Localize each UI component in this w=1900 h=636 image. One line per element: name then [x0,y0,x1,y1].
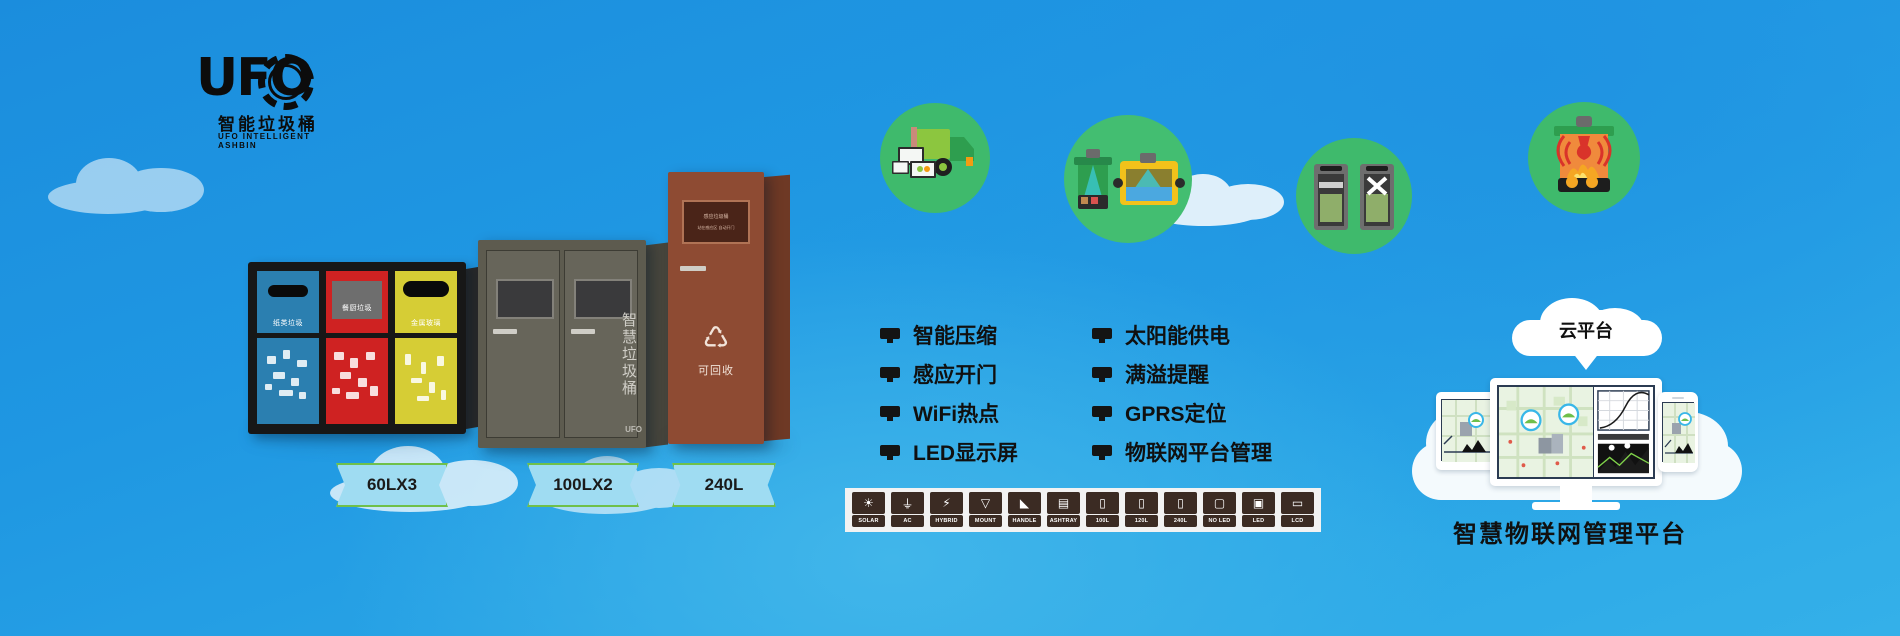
fire-alarm-icon [1528,102,1640,214]
feature-circle-truck [880,103,990,213]
device-desktop-monitor [1490,378,1662,486]
truck-monitoring-icon [880,103,990,213]
feature-circle-compression [1296,138,1412,254]
bin-side-panel [644,243,668,448]
spec-icon-mount: ▽MOUNT [969,492,1002,528]
capacity-banner-240l: 240L [672,463,776,507]
phone-speaker [1672,397,1684,399]
brand-en-name: UFO INTELLIGENT ASHBIN [218,132,326,150]
feature-label: WiFi热点 [913,398,999,428]
brand-logo: UFO 智能垃圾桶 UFO INTELLIGENT ASHBIN [196,52,326,152]
spec-icon-lcd: ▭LCD [1281,492,1314,528]
fill-level-sensor-icon [1064,115,1192,243]
ashtray-icon: ▤ [1047,492,1080,514]
bin-120l-icon: ▯ [1125,492,1158,514]
feature-label: 感应开门 [913,359,997,389]
spec-caption: 240L [1164,515,1197,527]
compartment-bottom-metal-glass [395,338,457,424]
feature-item: 满溢提醒 [1092,359,1272,389]
spec-caption: MOUNT [969,515,1002,527]
spec-icon-ac: ⏚AC [891,492,924,528]
arrow-stem [1579,344,1593,356]
spec-icon-solar: ☀SOLAR [852,492,885,528]
feature-item: 物联网平台管理 [1092,437,1272,467]
spec-icon-ashtray: ▤ASHTRAY [1047,492,1080,528]
spec-icon-strip: ☀SOLAR ⏚AC ⚡HYBRID ▽MOUNT ◣HANDLE ▤ASHTR… [845,488,1321,532]
bin-handle [493,329,517,334]
compartment-label-metal-glass: 金属玻璃 [395,318,457,328]
product-smart-double-bin: 智慧垃圾桶 UFO [478,240,646,448]
compartment-label-paper: 纸类垃圾 [257,318,319,328]
feature-label: LED显示屏 [913,437,1018,467]
spec-caption: 100L [1086,515,1119,527]
compartment-top-metal-glass: 金属玻璃 [395,271,457,333]
tablet-map-chart [1442,400,1492,462]
compartment-top-kitchen: 餐厨垃圾 [326,271,388,333]
dashboard-charts [1594,387,1653,477]
spec-caption: HANDLE [1008,515,1041,527]
monitor-icon [1092,406,1112,421]
monitor-base [1532,502,1620,510]
spec-caption: LCD [1281,515,1314,527]
feature-item: 太阳能供电 [1092,320,1272,350]
spec-icon-120l: ▯120L [1125,492,1158,528]
bin-handle [680,266,706,271]
phone-screen [1662,402,1694,462]
plug-icon: ⏚ [891,492,924,514]
bin-handle [571,329,595,334]
feature-column-left: 智能压缩 感应开门 WiFi热点 LED显示屏 [880,320,1018,467]
bin-brand-logo: UFO [625,425,642,434]
tablet-screen [1441,399,1491,461]
capacity-banner-60lx3: 60LX3 [336,463,448,507]
bin-door-left [486,250,560,438]
feature-list: 智能压缩 感应开门 WiFi热点 LED显示屏 太阳能供电 满溢提醒 GPRS定… [880,320,1272,467]
monitor-icon [880,406,900,421]
monitor-icon [1092,328,1112,343]
monitor-screen [1497,385,1655,479]
spec-icon-no-led: ▢NO LED [1203,492,1236,528]
monitor-map-panel [1499,387,1593,477]
bin-screen-text: 感应垃圾桶 [684,214,748,221]
bin-display-screen: 感应垃圾桶 站在感应区 自动开门 [682,200,750,244]
handle-icon: ◣ [1008,492,1041,514]
compression-bin-icon [1296,138,1412,254]
monitor-icon [880,367,900,382]
recycle-symbol-icon: ♺ [668,324,764,354]
monitor-icon [1092,367,1112,382]
bin-display-screen [496,279,554,319]
monitor-icon [1092,445,1112,460]
spec-icon-240l: ▯240L [1164,492,1197,528]
monitor-icon [880,445,900,460]
spec-caption: ASHTRAY [1047,515,1080,527]
city-map-graphic [1499,387,1593,477]
feature-item: GPRS定位 [1092,398,1272,428]
spec-caption: AC [891,515,924,527]
feature-label: GPRS定位 [1125,398,1227,428]
no-led-icon: ▢ [1203,492,1236,514]
capacity-banner-100lx2: 100LX2 [527,463,639,507]
product-recycle-bin: 感应垃圾桶 站在感应区 自动开门 ♺ 可回收 [668,172,764,444]
phone-map-chart [1663,403,1695,463]
compartment-label-kitchen: 餐厨垃圾 [326,303,388,313]
feature-label: 满溢提醒 [1125,359,1209,389]
spec-caption: NO LED [1203,515,1236,527]
recycle-label: 可回收 [668,362,764,378]
feature-item: 智能压缩 [880,320,1018,350]
spec-icon-led: ▣LED [1242,492,1275,528]
compartment-bottom-paper [257,338,319,424]
feature-circle-fill-level [1064,115,1192,243]
platform-title: 智慧物联网管理平台 [1400,514,1740,549]
spec-caption: LED [1242,515,1275,527]
compartment-panel [332,281,382,319]
bin-240l-icon: ▯ [1164,492,1197,514]
sun-icon: ☀ [852,492,885,514]
spec-icon-hybrid: ⚡HYBRID [930,492,963,528]
feature-item: 感应开门 [880,359,1018,389]
poster-canvas: UFO 智能垃圾桶 UFO INTELLIGENT ASHBIN 纸类垃圾 餐厨… [0,0,1900,636]
spec-caption: SOLAR [852,515,885,527]
led-icon: ▣ [1242,492,1275,514]
feature-circle-fire-alarm [1528,102,1640,214]
device-tablet [1436,392,1496,470]
ufo-inner-ring-icon [268,64,304,100]
product-classified-bin: 纸类垃圾 餐厨垃圾 金属玻璃 [248,262,466,434]
lightning-icon: ⚡ [930,492,963,514]
feature-item: LED显示屏 [880,437,1018,467]
feature-label: 智能压缩 [913,320,997,350]
wall-mount-icon: ▽ [969,492,1002,514]
feature-item: WiFi热点 [880,398,1018,428]
bin-vertical-label: 智慧垃圾桶 [620,312,640,397]
monitor-icon [880,328,900,343]
monitor-chart-panel [1593,387,1653,477]
feature-label: 物联网平台管理 [1125,437,1272,467]
compartment-top-paper: 纸类垃圾 [257,271,319,333]
device-smartphone [1658,392,1698,472]
spec-icon-handle: ◣HANDLE [1008,492,1041,528]
bin-screen-subtext: 站在感应区 自动开门 [684,224,748,231]
lcd-icon: ▭ [1281,492,1314,514]
spec-caption: HYBRID [930,515,963,527]
spec-caption: 120L [1125,515,1158,527]
bin-100l-icon: ▯ [1086,492,1119,514]
feature-column-right: 太阳能供电 满溢提醒 GPRS定位 物联网平台管理 [1092,320,1272,467]
bin-side-panel [762,175,790,441]
spec-icon-100l: ▯100L [1086,492,1119,528]
compartment-bottom-kitchen [326,338,388,424]
cloud-decoration-left [48,150,218,220]
feature-label: 太阳能供电 [1125,320,1230,350]
